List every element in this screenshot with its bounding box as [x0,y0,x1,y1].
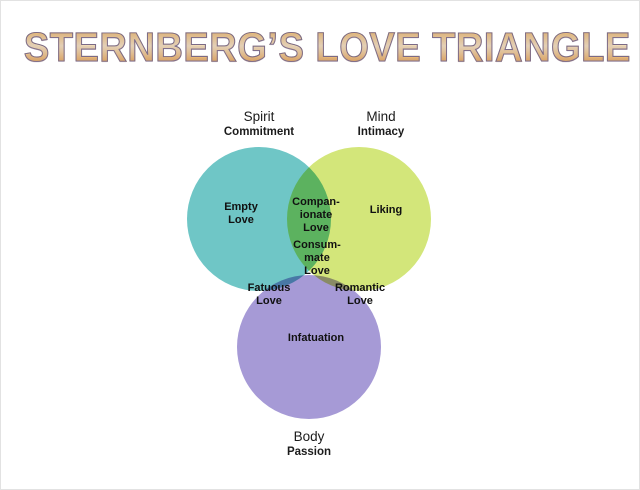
venn-svg [1,1,640,490]
label-body-passion: Body Passion [239,429,379,459]
slide-canvas: STERNBERG’S LOVE TRIANGLE Spirit Commitm… [0,0,640,490]
venn-circles [187,147,431,419]
label-mind-intimacy: Mind Intimacy [301,109,461,139]
circle-intimacy [287,147,431,291]
label-body-top: Body [239,429,379,445]
label-intimacy: Intimacy [301,125,461,139]
label-passion: Passion [239,445,379,459]
venn-diagram: Spirit Commitment Mind Intimacy Body Pas… [1,1,640,490]
circle-passion [237,275,381,419]
label-mind-top: Mind [301,109,461,125]
